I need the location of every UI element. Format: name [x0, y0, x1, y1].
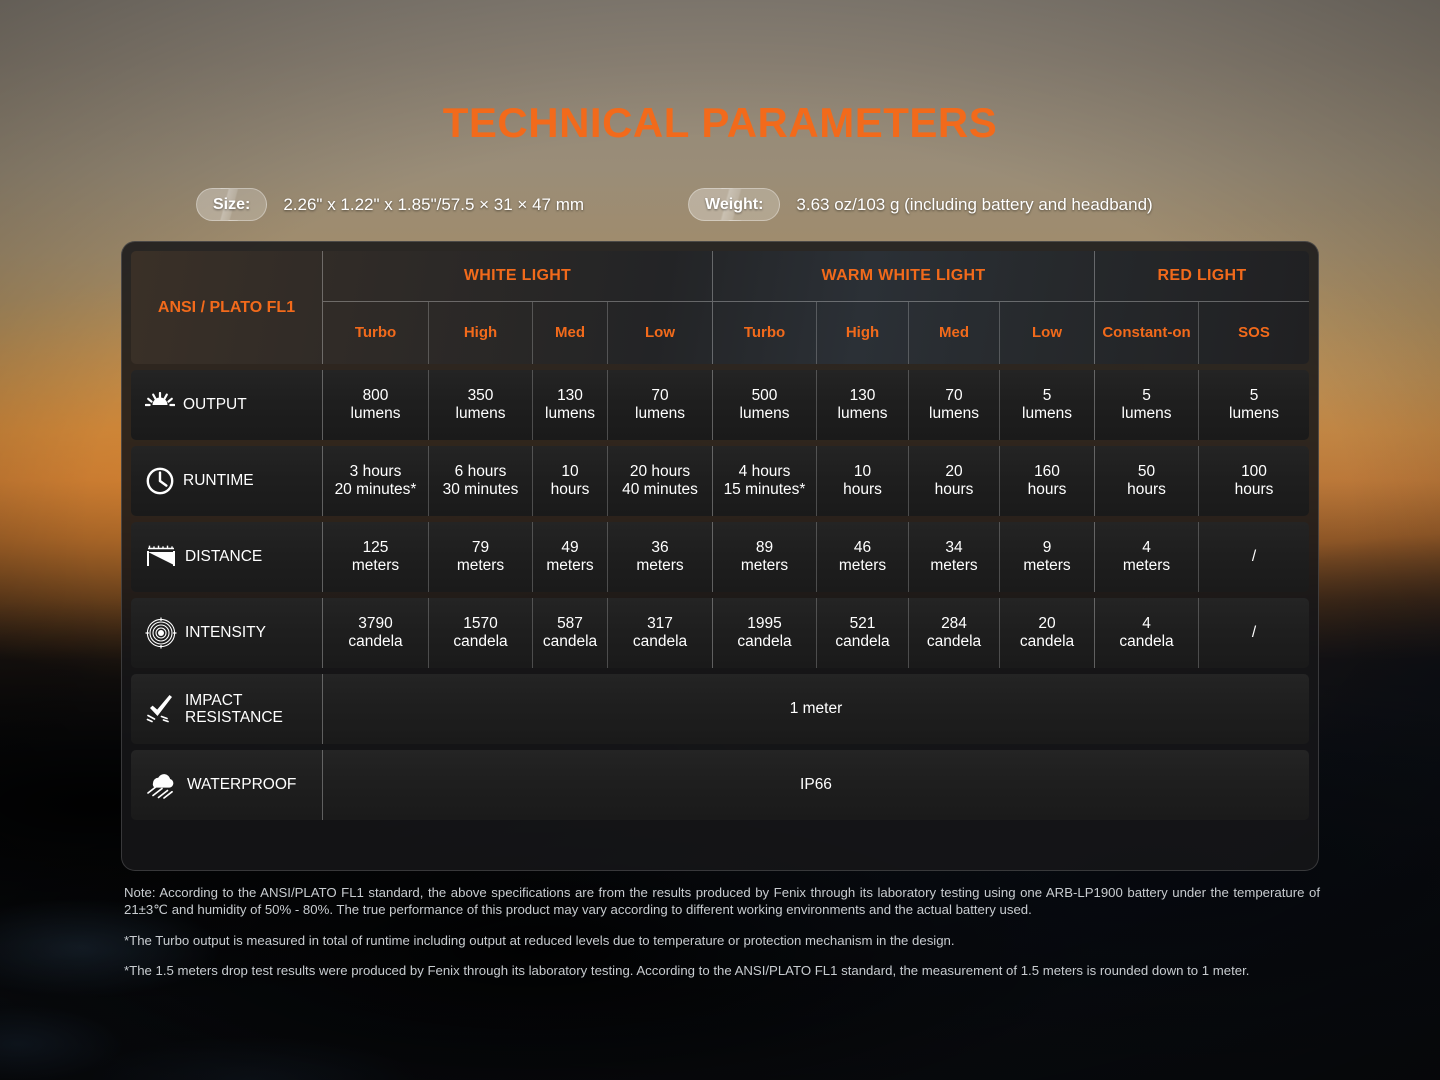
size-badge: Size: [196, 188, 267, 221]
value: 1995 [747, 615, 781, 633]
unit: candela [543, 633, 597, 651]
cell-runtime-white-turbo: 3 hours 20 minutes* [323, 446, 429, 516]
unit: 40 minutes [622, 481, 698, 499]
value: 800 [363, 387, 389, 405]
unit: 15 minutes* [724, 481, 806, 499]
unit: hours [551, 481, 590, 499]
mode-red-sos[interactable]: SOS [1199, 302, 1309, 364]
mode-warm-turbo[interactable]: Turbo [713, 302, 817, 364]
value: / [1252, 624, 1256, 642]
group-title-red-light: RED LIGHT [1095, 251, 1309, 301]
cell-runtime-red-sos: 100 hours [1199, 446, 1309, 516]
value: 4 [1142, 615, 1151, 633]
value: 587 [557, 615, 583, 633]
group-modes-red-light: Constant-on SOS [1095, 301, 1309, 364]
cell-waterproof-value: IP66 [323, 750, 1309, 820]
unit: meters [930, 557, 977, 575]
size-value: 2.26" x 1.22" x 1.85"/57.5 × 31 × 47 mm [283, 195, 584, 215]
row-label-runtime-text: RUNTIME [183, 472, 254, 489]
table-row-waterproof: WATERPROOF IP66 [131, 750, 1309, 820]
beam-distance-icon [145, 544, 177, 570]
value: 9 [1043, 539, 1052, 557]
cell-output-red-constant-on: 5 lumens [1095, 370, 1199, 440]
value: 3 hours [350, 463, 402, 481]
unit: 20 minutes* [335, 481, 417, 499]
unit: lumens [1122, 405, 1172, 423]
impact-resistance-icon [145, 694, 177, 724]
unit: meters [741, 557, 788, 575]
row-label-runtime: RUNTIME [131, 446, 323, 516]
cell-intensity-warm-low: 20 candela [1000, 598, 1095, 668]
mode-red-constant-on[interactable]: Constant-on [1095, 302, 1199, 364]
cell-runtime-white-high: 6 hours 30 minutes [429, 446, 533, 516]
unit: meters [457, 557, 504, 575]
label-line-2: RESISTANCE [185, 709, 283, 726]
cell-distance-white-turbo: 125 meters [323, 522, 429, 592]
cell-intensity-warm-high: 521 candela [817, 598, 909, 668]
cell-distance-red-constant-on: 4 meters [1095, 522, 1199, 592]
value: 521 [850, 615, 876, 633]
unit: lumens [740, 405, 790, 423]
unit: lumens [929, 405, 979, 423]
cell-distance-white-high: 79 meters [429, 522, 533, 592]
row-cells-output: 800 lumens 350 lumens 130 lumens 70 lume… [323, 370, 1309, 440]
cell-runtime-red-constant-on: 50 hours [1095, 446, 1199, 516]
value: 10 [854, 463, 871, 481]
table-row-runtime: RUNTIME 3 hours 20 minutes* 6 hours 30 m… [131, 446, 1309, 516]
spec-summary-row: Size: 2.26" x 1.22" x 1.85"/57.5 × 31 × … [196, 188, 1320, 221]
value: 5 [1142, 387, 1151, 405]
mode-white-high[interactable]: High [429, 302, 533, 364]
row-label-distance-text: DISTANCE [185, 548, 262, 565]
value: 20 [1038, 615, 1055, 633]
mode-white-turbo[interactable]: Turbo [323, 302, 429, 364]
value: 5 [1250, 387, 1259, 405]
target-intensity-icon [145, 617, 177, 649]
row-label-intensity: INTENSITY [131, 598, 323, 668]
value: 125 [363, 539, 389, 557]
value: 10 [561, 463, 578, 481]
row-label-impact-resistance-text: IMPACT RESISTANCE [185, 692, 283, 727]
group-modes-white-light: Turbo High Med Low [323, 301, 712, 364]
unit: lumens [456, 405, 506, 423]
value: 49 [561, 539, 578, 557]
unit: candela [1119, 633, 1173, 651]
table-row-intensity: INTENSITY 3790 candela 1570 candela 587 … [131, 598, 1309, 668]
cell-impact-resistance-value: 1 meter [323, 674, 1309, 744]
size-badge-label: Size: [213, 196, 250, 214]
value: 70 [945, 387, 962, 405]
cell-output-white-turbo: 800 lumens [323, 370, 429, 440]
cell-runtime-warm-med: 20 hours [909, 446, 1000, 516]
value: 350 [468, 387, 494, 405]
cell-output-warm-med: 70 lumens [909, 370, 1000, 440]
value: 6 hours [455, 463, 507, 481]
unit: candela [453, 633, 507, 651]
mode-warm-low[interactable]: Low [1000, 302, 1094, 364]
value: 36 [651, 539, 668, 557]
value: 20 [945, 463, 962, 481]
weight-badge-label: Weight: [705, 196, 763, 214]
cell-runtime-white-med: 10 hours [533, 446, 608, 516]
rain-cloud-icon [145, 771, 179, 799]
cell-distance-warm-low: 9 meters [1000, 522, 1095, 592]
unit: candela [633, 633, 687, 651]
row-label-output-text: OUTPUT [183, 396, 247, 413]
note-turbo: *The Turbo output is measured in total o… [124, 932, 1320, 949]
unit: candela [348, 633, 402, 651]
unit: hours [1235, 481, 1274, 499]
mode-warm-high[interactable]: High [817, 302, 909, 364]
row-label-distance: DISTANCE [131, 522, 323, 592]
note-drop-test: *The 1.5 meters drop test results were p… [124, 962, 1320, 979]
cell-runtime-warm-low: 160 hours [1000, 446, 1095, 516]
value: 70 [651, 387, 668, 405]
cell-distance-warm-high: 46 meters [817, 522, 909, 592]
cell-intensity-white-high: 1570 candela [429, 598, 533, 668]
unit: lumens [545, 405, 595, 423]
footnotes: Note: According to the ANSI/PLATO FL1 st… [124, 884, 1320, 980]
row-cells-intensity: 3790 candela 1570 candela 587 candela 31… [323, 598, 1309, 668]
unit: meters [546, 557, 593, 575]
weight-badge: Weight: [688, 188, 780, 221]
value: 284 [941, 615, 967, 633]
cell-runtime-white-low: 20 hours 40 minutes [608, 446, 713, 516]
cell-intensity-warm-med: 284 candela [909, 598, 1000, 668]
group-white-light: WHITE LIGHT Turbo High Med Low [323, 251, 713, 364]
unit: candela [737, 633, 791, 651]
unit: lumens [1022, 405, 1072, 423]
cell-distance-warm-med: 34 meters [909, 522, 1000, 592]
page-title: TECHNICAL PARAMETERS [0, 99, 1440, 147]
value: / [1252, 548, 1256, 566]
unit: meters [352, 557, 399, 575]
row-cells-distance: 125 meters 79 meters 49 meters 36 meters… [323, 522, 1309, 592]
cell-runtime-warm-high: 10 hours [817, 446, 909, 516]
unit: meters [1123, 557, 1170, 575]
unit: candela [835, 633, 889, 651]
unit: hours [1028, 481, 1067, 499]
unit: meters [1023, 557, 1070, 575]
mode-white-low[interactable]: Low [608, 302, 712, 364]
technical-parameters-table: ANSI / PLATO FL1 WHITE LIGHT Turbo High … [121, 241, 1319, 871]
group-title-warm-white-light: WARM WHITE LIGHT [713, 251, 1094, 301]
unit: hours [843, 481, 882, 499]
cell-output-warm-low: 5 lumens [1000, 370, 1095, 440]
table-corner-label: ANSI / PLATO FL1 [131, 251, 323, 364]
unit: lumens [635, 405, 685, 423]
cell-intensity-warm-turbo: 1995 candela [713, 598, 817, 668]
table-row-output: OUTPUT 800 lumens 350 lumens 130 lumens … [131, 370, 1309, 440]
value: 5 [1043, 387, 1052, 405]
group-red-light: RED LIGHT Constant-on SOS [1095, 251, 1309, 364]
table-row-distance: DISTANCE 125 meters 79 meters 49 meters … [131, 522, 1309, 592]
cell-distance-white-med: 49 meters [533, 522, 608, 592]
cell-output-white-low: 70 lumens [608, 370, 713, 440]
value: 20 hours [630, 463, 690, 481]
unit: meters [839, 557, 886, 575]
unit: 30 minutes [443, 481, 519, 499]
value: 130 [850, 387, 876, 405]
group-warm-white-light: WARM WHITE LIGHT Turbo High Med Low [713, 251, 1095, 364]
cell-intensity-white-low: 317 candela [608, 598, 713, 668]
value: 160 [1034, 463, 1060, 481]
value: 1570 [463, 615, 497, 633]
value: 317 [647, 615, 673, 633]
mode-warm-med[interactable]: Med [909, 302, 1000, 364]
table-header-row: ANSI / PLATO FL1 WHITE LIGHT Turbo High … [131, 251, 1309, 364]
unit: candela [927, 633, 981, 651]
value: 34 [945, 539, 962, 557]
cell-output-warm-high: 130 lumens [817, 370, 909, 440]
unit: lumens [351, 405, 401, 423]
cell-intensity-white-turbo: 3790 candela [323, 598, 429, 668]
value: 4 hours [739, 463, 791, 481]
row-label-impact-resistance: IMPACT RESISTANCE [131, 674, 323, 744]
row-label-intensity-text: INTENSITY [185, 624, 266, 641]
group-title-white-light: WHITE LIGHT [323, 251, 712, 301]
header-groups: WHITE LIGHT Turbo High Med Low WARM WHIT… [323, 251, 1309, 364]
value: 46 [854, 539, 871, 557]
label-line-1: IMPACT [185, 692, 242, 709]
unit: hours [935, 481, 974, 499]
cell-distance-red-sos: / [1199, 522, 1309, 592]
unit: lumens [838, 405, 888, 423]
value: 500 [752, 387, 778, 405]
unit: meters [636, 557, 683, 575]
cell-distance-white-low: 36 meters [608, 522, 713, 592]
mode-white-med[interactable]: Med [533, 302, 608, 364]
cell-output-red-sos: 5 lumens [1199, 370, 1309, 440]
unit: lumens [1229, 405, 1279, 423]
unit: candela [1020, 633, 1074, 651]
sun-burst-icon [145, 392, 175, 418]
value: 89 [756, 539, 773, 557]
value: 3790 [358, 615, 392, 633]
row-label-waterproof-text: WATERPROOF [187, 776, 296, 793]
group-modes-warm-white-light: Turbo High Med Low [713, 301, 1094, 364]
table-row-impact-resistance: IMPACT RESISTANCE 1 meter [131, 674, 1309, 744]
row-label-output: OUTPUT [131, 370, 323, 440]
cell-output-white-med: 130 lumens [533, 370, 608, 440]
cell-distance-warm-turbo: 89 meters [713, 522, 817, 592]
unit: hours [1127, 481, 1166, 499]
value: 79 [472, 539, 489, 557]
cell-intensity-white-med: 587 candela [533, 598, 608, 668]
value: 130 [557, 387, 583, 405]
value: 50 [1138, 463, 1155, 481]
cell-output-white-high: 350 lumens [429, 370, 533, 440]
cell-runtime-warm-turbo: 4 hours 15 minutes* [713, 446, 817, 516]
weight-value: 3.63 oz/103 g (including battery and hea… [796, 195, 1152, 215]
value: 100 [1241, 463, 1267, 481]
row-label-waterproof: WATERPROOF [131, 750, 323, 820]
cell-intensity-red-sos: / [1199, 598, 1309, 668]
row-cells-runtime: 3 hours 20 minutes* 6 hours 30 minutes 1… [323, 446, 1309, 516]
cell-intensity-red-constant-on: 4 candela [1095, 598, 1199, 668]
clock-icon [145, 466, 175, 496]
value: 4 [1142, 539, 1151, 557]
note-main: Note: According to the ANSI/PLATO FL1 st… [124, 884, 1320, 919]
cell-output-warm-turbo: 500 lumens [713, 370, 817, 440]
